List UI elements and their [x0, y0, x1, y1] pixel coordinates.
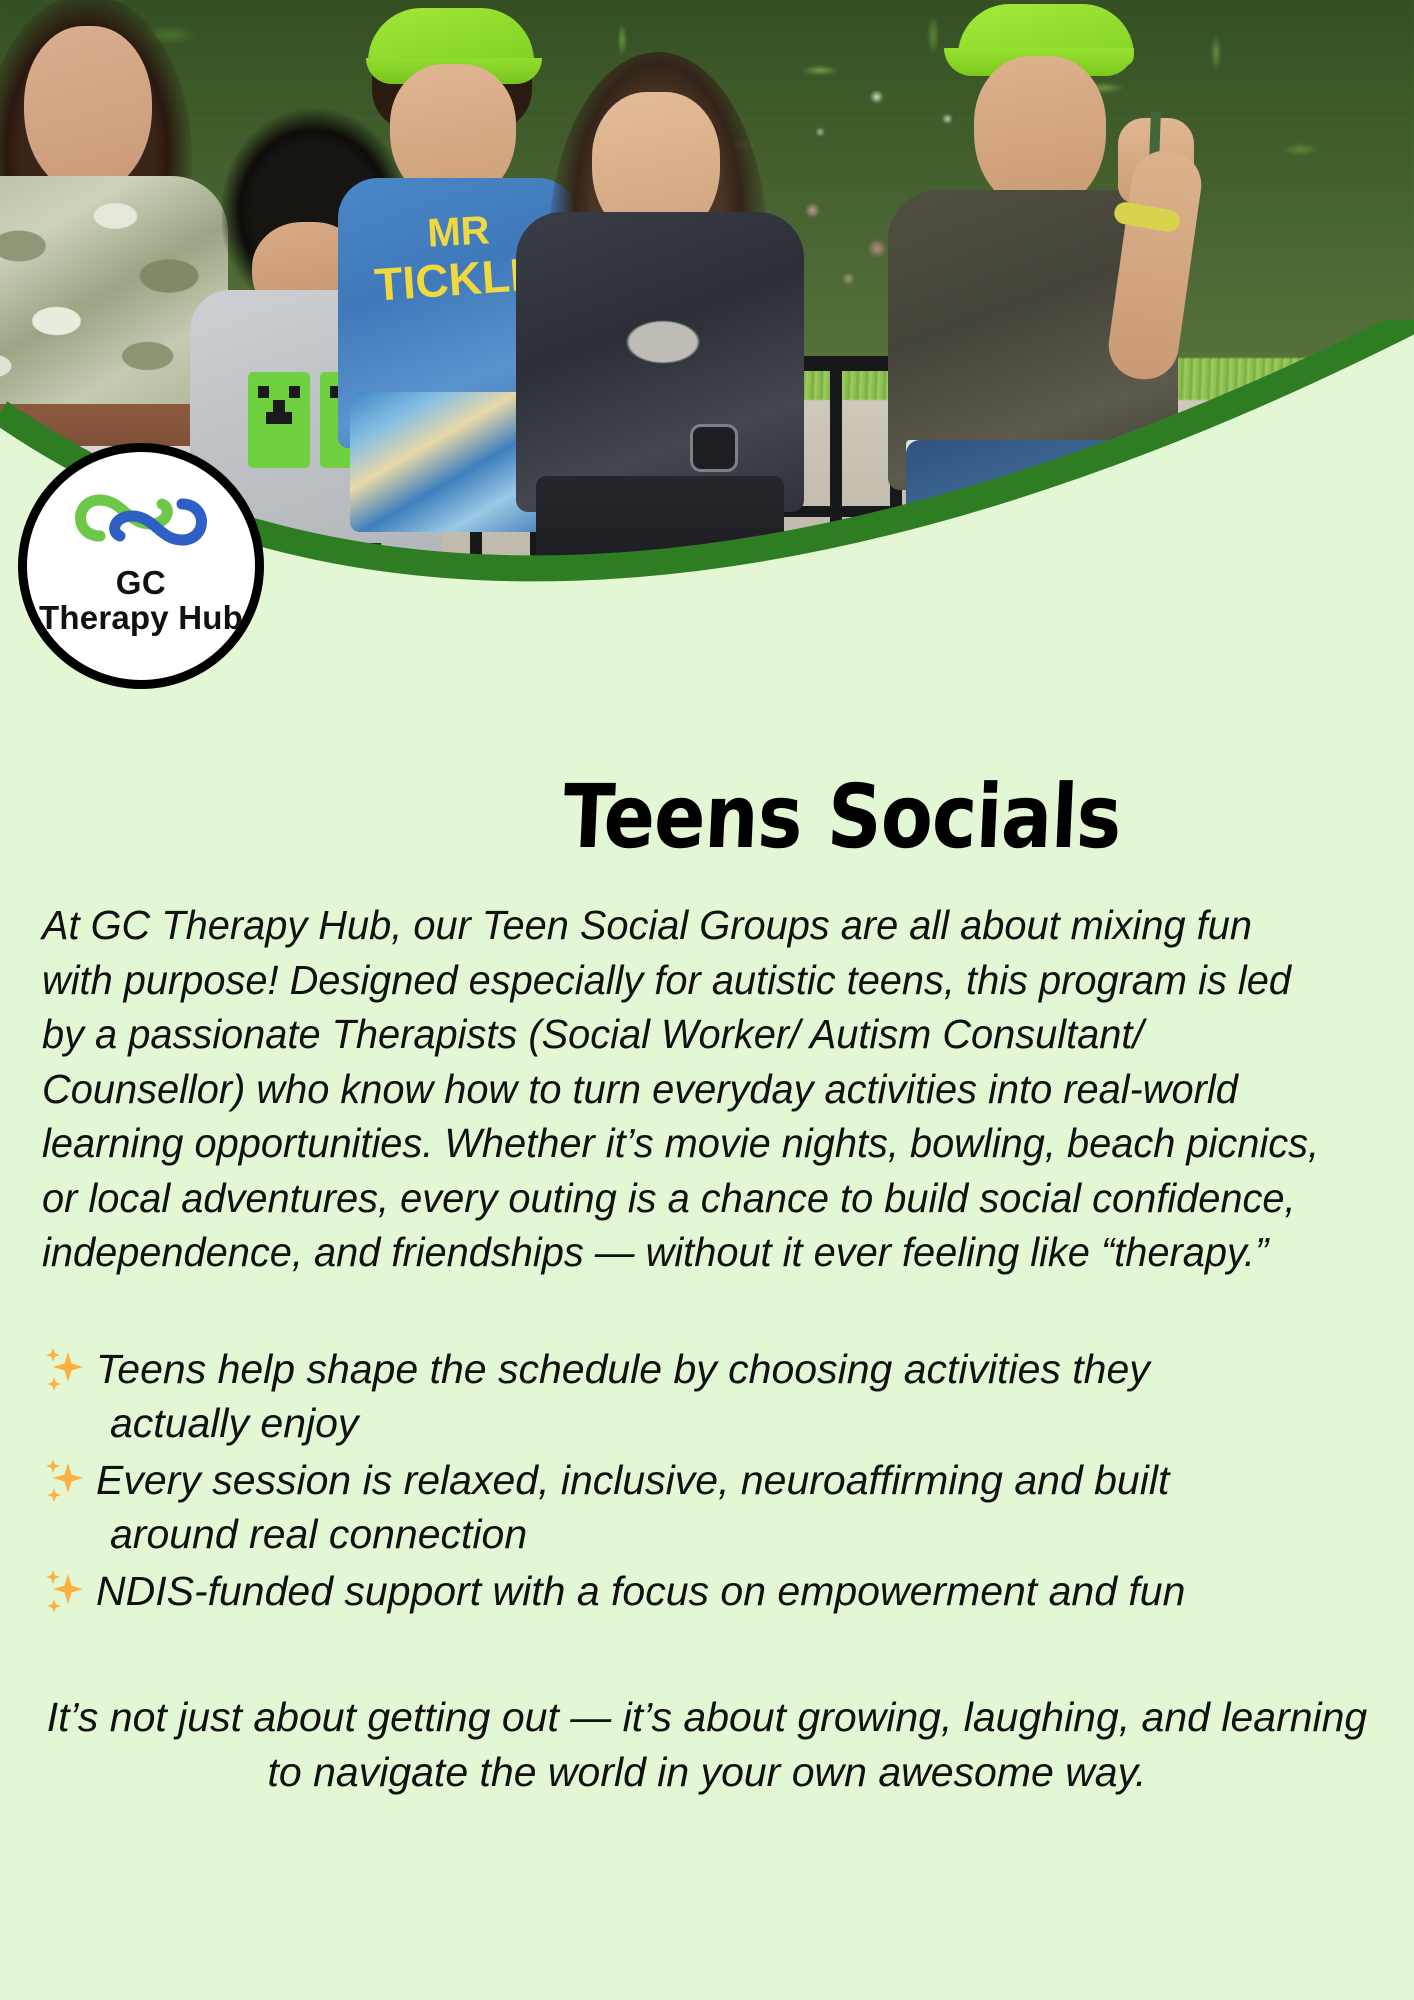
person-2-creeper-face: [258, 386, 300, 426]
infinity-swirl-icon: [66, 478, 216, 562]
feature-bullet-list: Teens help shape the schedule by choosin…: [42, 1342, 1372, 1619]
poster-flyer: MINECRAFT MR TICKLE: [0, 0, 1414, 2000]
list-item-text: NDIS-funded support with a focus on empo…: [96, 1564, 1372, 1619]
person-5-face: [974, 56, 1106, 212]
list-item-text: Every session is relaxed, inclusive, neu…: [96, 1453, 1372, 1562]
page-title: Teens Socials: [348, 773, 1336, 861]
sparkles-icon: [42, 1346, 86, 1396]
sparkles-icon: [42, 1457, 86, 1507]
person-4-leg-right: [672, 560, 758, 600]
person-4-smartwatch: [690, 424, 738, 472]
list-item: Teens help shape the schedule by choosin…: [42, 1342, 1372, 1451]
list-item: Every session is relaxed, inclusive, neu…: [42, 1453, 1372, 1562]
poster-body: At GC Therapy Hub, our Teen Social Group…: [42, 898, 1372, 1799]
bullet-line-1: Every session is relaxed, inclusive, neu…: [96, 1457, 1169, 1503]
bullet-line-2: around real connection: [96, 1507, 1372, 1562]
gc-therapy-hub-logo[interactable]: GC Therapy Hub: [18, 443, 264, 689]
person-5-jeans: [906, 440, 1182, 600]
list-item: NDIS-funded support with a focus on empo…: [42, 1564, 1372, 1619]
railing-post: [830, 356, 842, 556]
list-item-text: Teens help shape the schedule by choosin…: [96, 1342, 1372, 1451]
person-4-shirt-print: [598, 300, 728, 400]
bullet-line-1: NDIS-funded support with a focus on empo…: [96, 1568, 1185, 1614]
bullet-line-1: Teens help shape the schedule by choosin…: [96, 1346, 1150, 1392]
logo-text-line1: GC: [116, 566, 167, 601]
person-4-leg-left: [552, 560, 638, 600]
person-1-face: [24, 26, 152, 194]
intro-paragraph: At GC Therapy Hub, our Teen Social Group…: [42, 898, 1332, 1280]
sparkles-icon: [42, 1568, 86, 1618]
logo-text-line2: Therapy Hub: [39, 601, 243, 636]
bullet-line-2: actually enjoy: [96, 1396, 1372, 1451]
closing-paragraph: It’s not just about getting out — it’s a…: [42, 1690, 1372, 1799]
